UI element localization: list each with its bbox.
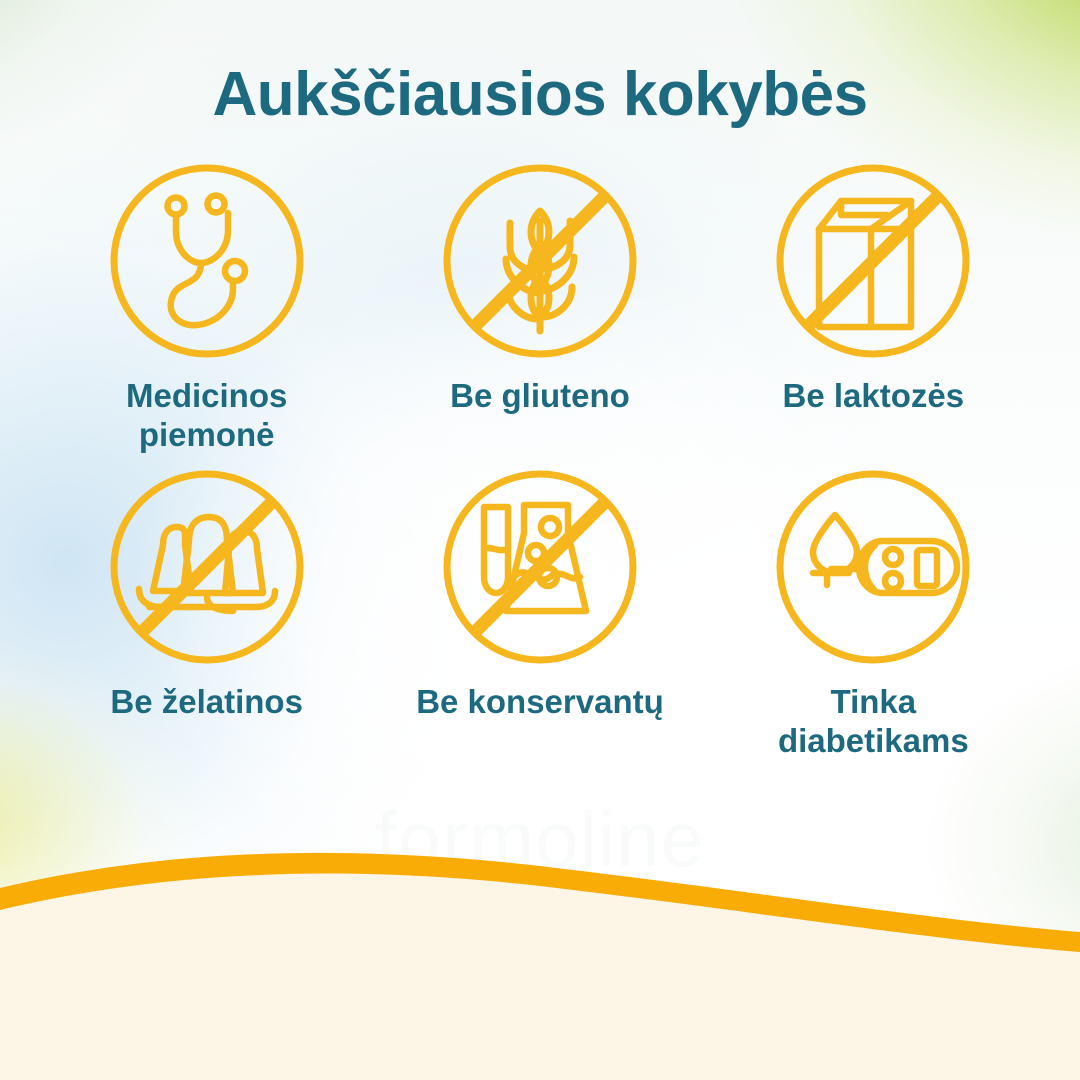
wave-cream-fill: [0, 870, 1080, 1080]
stethoscope-icon: [105, 159, 309, 363]
feature-item-diabetic-suitable: Tinka diabetikams: [707, 459, 1040, 761]
feature-item-lactose-free: Be laktozės: [707, 159, 1040, 455]
feature-label: Medicinos piemonė: [126, 377, 287, 455]
feature-item-gelatin-free: Be želatinos: [40, 459, 373, 761]
feature-label: Be gliuteno: [450, 377, 630, 416]
poster-content: Aukščiausios kokybės Medicinos piemonė: [0, 0, 1080, 761]
wheat-icon: [438, 159, 642, 363]
jelly-mold-icon: [105, 465, 309, 669]
feature-item-preservative-free: Be konservantų: [373, 459, 706, 761]
bottom-wave-decoration: [0, 830, 1080, 1080]
page-title: Aukščiausios kokybės: [0, 0, 1080, 127]
feature-item-medical-device: Medicinos piemonė: [40, 159, 373, 455]
feature-item-gluten-free: Be gliuteno: [373, 159, 706, 455]
glucose-meter-icon: [771, 465, 975, 669]
feature-label: Be konservantų: [416, 683, 664, 722]
features-grid: Medicinos piemonė: [40, 159, 1040, 761]
poster-root: formoline L112 DUO Aukščiausios kokybės: [0, 0, 1080, 1080]
feature-label: Be laktozės: [783, 377, 965, 416]
feature-label: Be želatinos: [110, 683, 303, 722]
milk-carton-icon: [771, 159, 975, 363]
feature-label: Tinka diabetikams: [778, 683, 969, 761]
test-tube-flask-icon: [438, 465, 642, 669]
